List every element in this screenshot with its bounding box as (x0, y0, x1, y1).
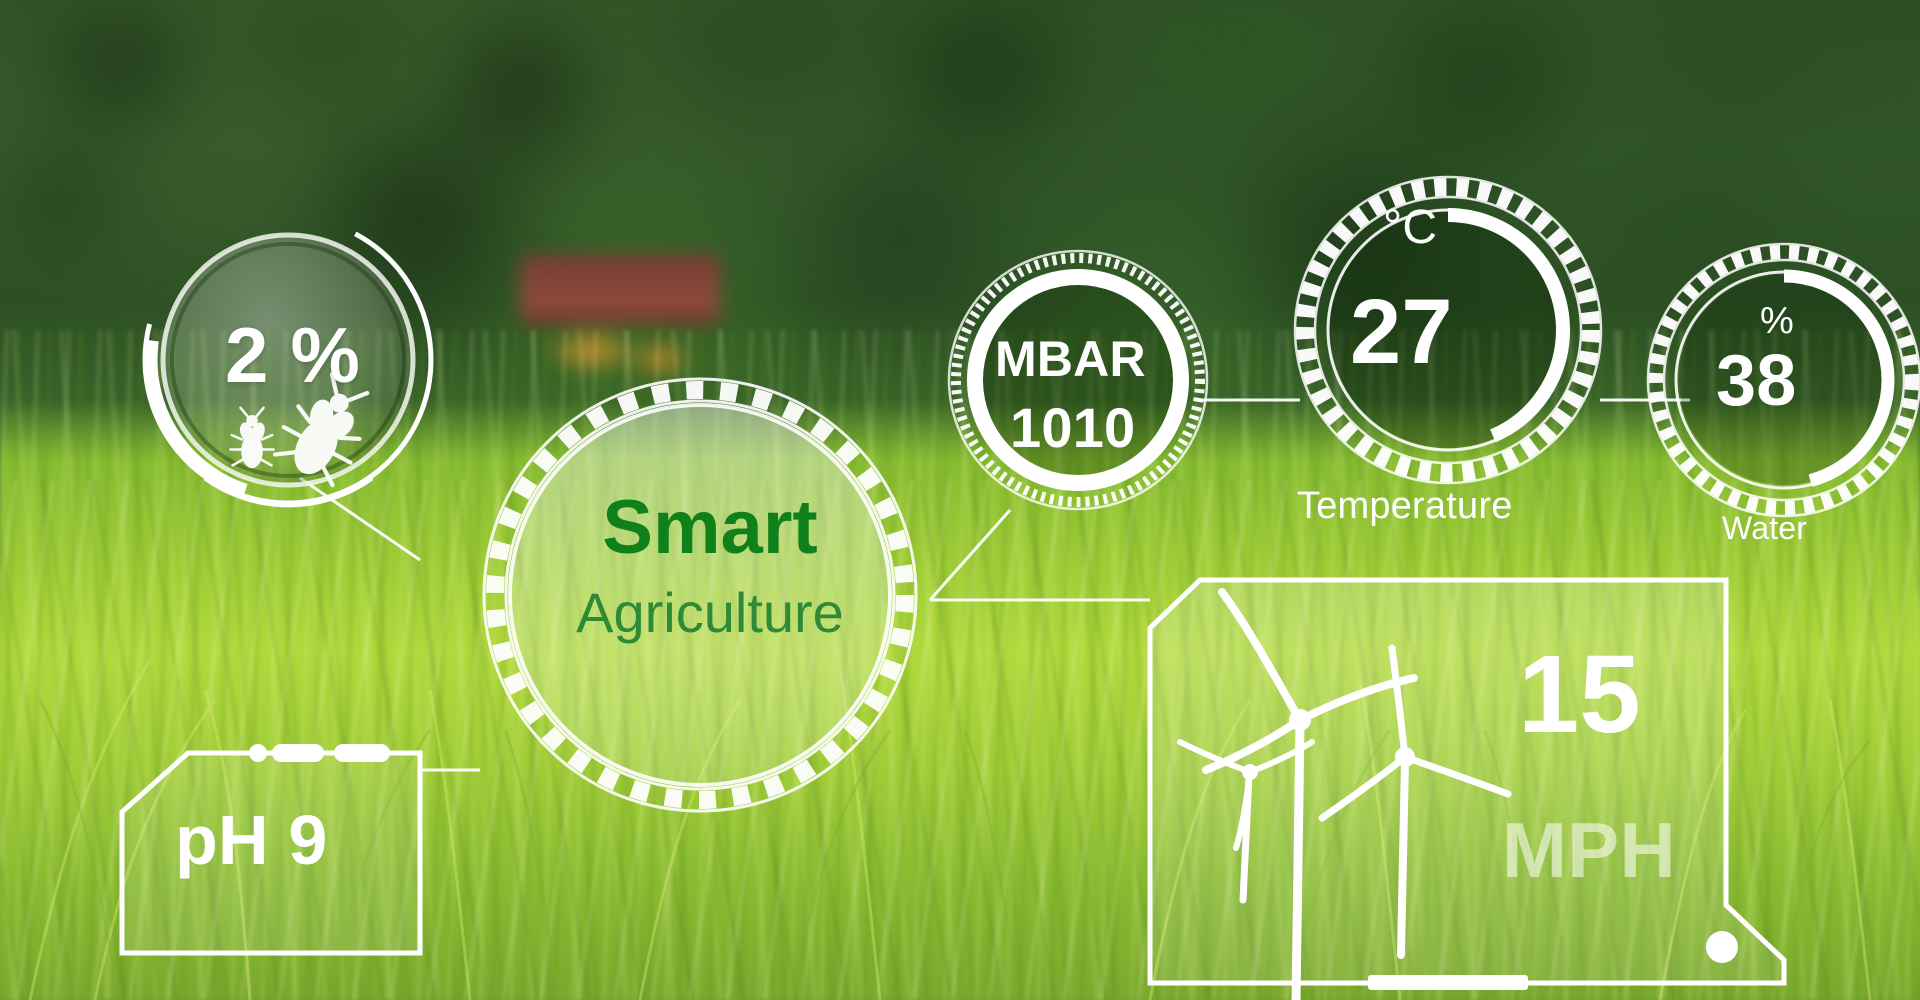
wind-value: 15 (1518, 640, 1641, 750)
wind-panel[interactable] (1150, 580, 1784, 1000)
wind-unit: MPH (1502, 805, 1676, 896)
wind-panel-corner-dot (1706, 931, 1738, 963)
pressure-unit: MBAR (995, 330, 1146, 388)
temperature-unit: °C (1383, 200, 1437, 255)
water-unit: % (1760, 300, 1794, 343)
connector-pest-to-hub (300, 478, 420, 560)
pressure-value: 1010 (1010, 395, 1135, 460)
connector-hub-to-pressure (930, 510, 1010, 600)
brand-subtitle: Agriculture (520, 585, 900, 641)
wind-panel-bottom-marker (1368, 975, 1528, 990)
water-value: 38 (1716, 340, 1797, 422)
water-label: Water (1722, 510, 1807, 547)
brand-title: Smart (540, 490, 880, 566)
hud-overlay: 2 % Smart Agriculture MBAR 1010 °C 27 Te… (0, 0, 1920, 1000)
temperature-value: 27 (1350, 280, 1453, 385)
temperature-label: Temperature (1297, 485, 1513, 528)
pest-value: 2 % (225, 310, 360, 401)
smart-agriculture-infographic: 2 % Smart Agriculture MBAR 1010 °C 27 Te… (0, 0, 1920, 1000)
ph-value: pH 9 (175, 800, 328, 880)
